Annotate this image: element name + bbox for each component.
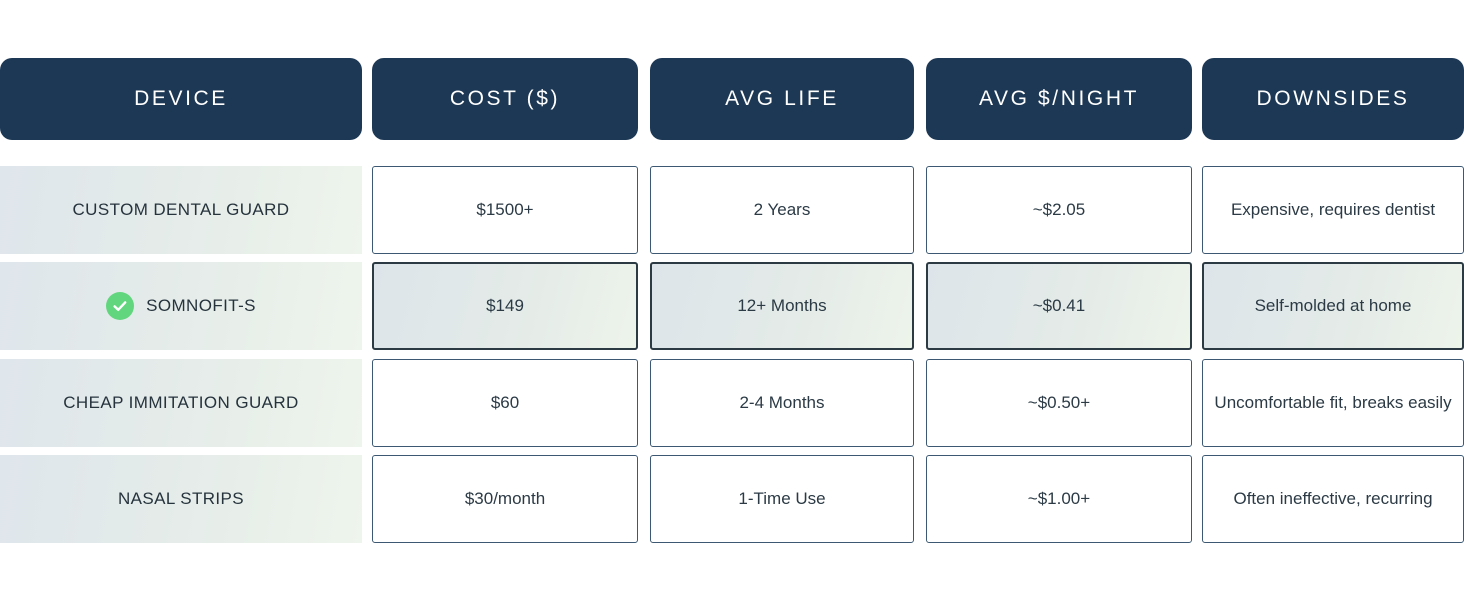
table-header-row: DEVICE COST ($) AVG LIFE AVG $/NIGHT DOW… — [0, 58, 1464, 140]
row-gap — [914, 166, 926, 254]
table-row: CUSTOM DENTAL GUARD $1500+ 2 Years ~$2.0… — [0, 166, 1464, 254]
row-gap — [914, 359, 926, 447]
row-gap — [362, 455, 372, 543]
table-row: NASAL STRIPS $30/month 1-Time Use ~$1.00… — [0, 455, 1464, 543]
row-gap — [362, 262, 372, 350]
downsides-cell: Often ineffective, recurring — [1202, 455, 1464, 543]
device-name-cell: SOMNOFIT-S — [0, 262, 362, 350]
downsides-cell: Self-molded at home — [1202, 262, 1464, 350]
row-gap — [362, 166, 372, 254]
column-header-cost-label: COST ($) — [450, 87, 560, 111]
cost-cell: $30/month — [372, 455, 638, 543]
column-header-avg-life-label: AVG LIFE — [725, 87, 839, 111]
column-header-device-label: DEVICE — [134, 87, 228, 111]
row-gap — [638, 262, 650, 350]
row-gap — [1192, 166, 1202, 254]
device-name-cell: CHEAP IMMITATION GUARD — [0, 359, 362, 447]
cost-cell: $1500+ — [372, 166, 638, 254]
device-name-label: NASAL STRIPS — [118, 489, 244, 509]
avg-life-cell: 2 Years — [650, 166, 914, 254]
row-gap — [638, 359, 650, 447]
device-name-label: CHEAP IMMITATION GUARD — [63, 393, 298, 413]
cost-cell: $149 — [372, 262, 638, 350]
avg-per-night-cell: ~$0.50+ — [926, 359, 1192, 447]
avg-life-cell: 12+ Months — [650, 262, 914, 350]
header-gap — [362, 58, 372, 140]
column-header-avg-life: AVG LIFE — [650, 58, 914, 140]
header-gap — [914, 58, 926, 140]
row-gap — [1192, 359, 1202, 447]
column-header-cost: COST ($) — [372, 58, 638, 140]
device-name-cell: CUSTOM DENTAL GUARD — [0, 166, 362, 254]
header-gap — [638, 58, 650, 140]
row-gap — [914, 262, 926, 350]
row-gap — [638, 166, 650, 254]
row-gap — [638, 455, 650, 543]
column-header-device: DEVICE — [0, 58, 362, 140]
avg-per-night-cell: ~$2.05 — [926, 166, 1192, 254]
avg-per-night-cell: ~$0.41 — [926, 262, 1192, 350]
device-name-label: SOMNOFIT-S — [146, 296, 256, 316]
column-header-avg-per-night: AVG $/NIGHT — [926, 58, 1192, 140]
device-comparison-table: DEVICE COST ($) AVG LIFE AVG $/NIGHT DOW… — [0, 0, 1464, 600]
header-gap — [1192, 58, 1202, 140]
row-gap — [1192, 455, 1202, 543]
avg-life-cell: 1-Time Use — [650, 455, 914, 543]
column-header-avg-per-night-label: AVG $/NIGHT — [979, 87, 1139, 111]
device-name-label: CUSTOM DENTAL GUARD — [73, 200, 290, 220]
table-row: CHEAP IMMITATION GUARD $60 2-4 Months ~$… — [0, 359, 1464, 447]
downsides-cell: Expensive, requires dentist — [1202, 166, 1464, 254]
table-row-featured: SOMNOFIT-S $149 12+ Months ~$0.41 Self-m… — [0, 262, 1464, 350]
avg-life-cell: 2-4 Months — [650, 359, 914, 447]
row-gap — [914, 455, 926, 543]
avg-per-night-cell: ~$1.00+ — [926, 455, 1192, 543]
cost-cell: $60 — [372, 359, 638, 447]
row-gap — [362, 359, 372, 447]
downsides-cell: Uncomfortable fit, breaks easily — [1202, 359, 1464, 447]
device-name-cell: NASAL STRIPS — [0, 455, 362, 543]
column-header-downsides-label: DOWNSIDES — [1257, 87, 1410, 111]
column-header-downsides: DOWNSIDES — [1202, 58, 1464, 140]
row-gap — [1192, 262, 1202, 350]
check-circle-icon — [106, 292, 134, 320]
